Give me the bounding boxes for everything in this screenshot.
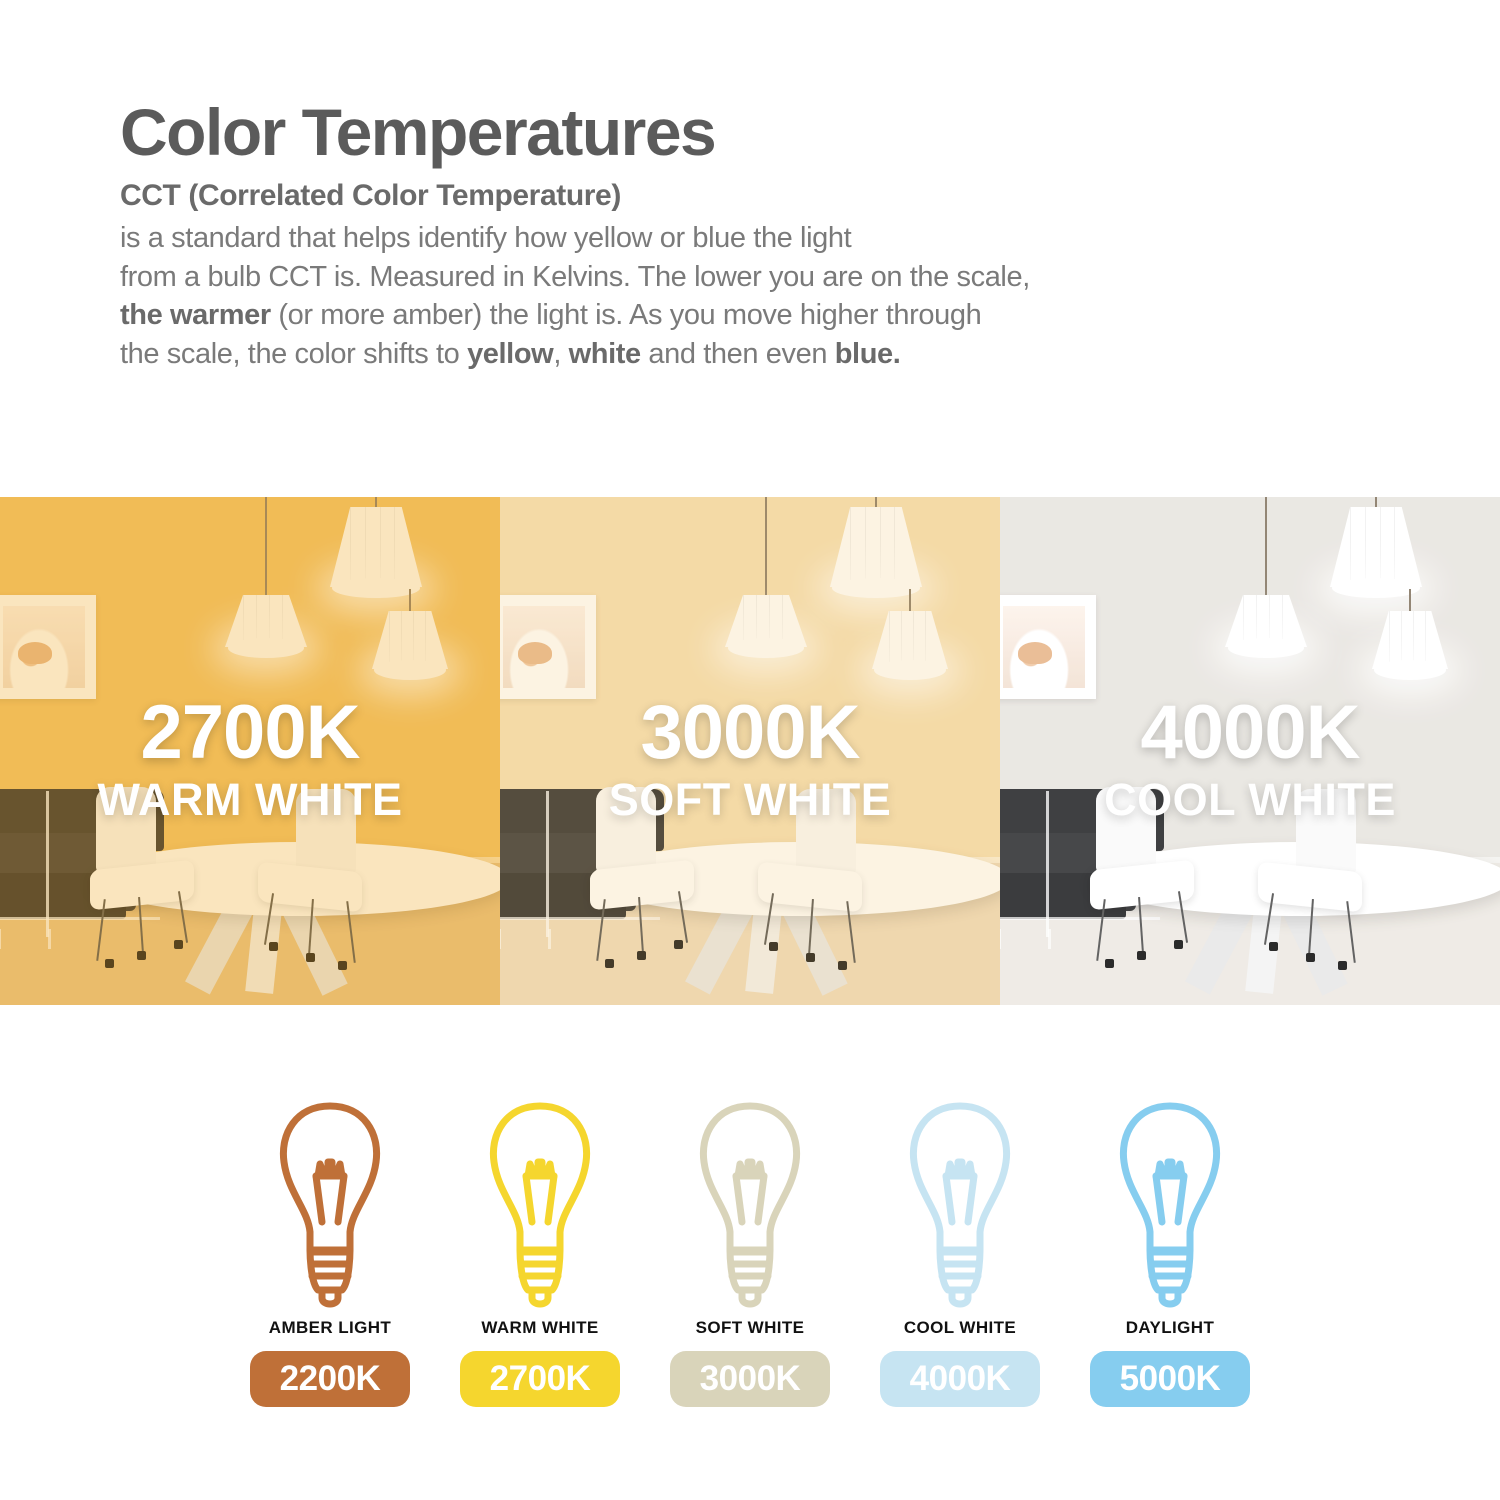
baby-photo: [1003, 606, 1085, 688]
baby-photo: [503, 606, 585, 688]
chair-foot: [1269, 942, 1278, 951]
sofa-leg: [48, 929, 51, 949]
lamp-cord: [875, 497, 877, 507]
scene-kelvin-label: 2700K: [0, 695, 500, 771]
bulb-name-label: DAYLIGHT: [1126, 1318, 1215, 1338]
sofa-frame-rail: [0, 917, 160, 920]
scene-kelvin-label: 4000K: [1000, 695, 1500, 771]
scene-caption: 3000K SOFT WHITE: [500, 695, 1000, 822]
light-bulb-icon: [690, 1100, 810, 1310]
light-bulb-icon: [270, 1100, 390, 1310]
chair-foot: [769, 942, 778, 951]
lamp-glow: [1374, 660, 1446, 680]
kelvin-pill-label: 2700K: [490, 1359, 591, 1399]
paragraph-line-4-tail: and then even: [641, 338, 835, 370]
sofa-frame-rail: [1000, 917, 1160, 920]
sofa-leg: [1048, 929, 1051, 949]
scene-name-label: SOFT WHITE: [500, 777, 1000, 822]
sofa-leg: [548, 929, 551, 949]
lamp-glow: [832, 578, 920, 598]
paragraph-line-2-text: from a bulb CCT is. Measured in Kelvins.…: [120, 261, 1030, 293]
chair-foot: [806, 953, 815, 962]
chair-foot: [338, 961, 347, 970]
lamp-cord: [375, 497, 377, 507]
room-scene-2700k: 2700K WARM WHITE: [0, 497, 500, 1005]
infographic-page: Color Temperatures CCT (Correlated Color…: [0, 0, 1500, 1500]
sofa-leg: [500, 929, 501, 949]
chair-foot: [269, 942, 278, 951]
kelvin-pill-label: 3000K: [700, 1359, 801, 1399]
chair-foot: [674, 940, 683, 949]
light-bulb-icon: [900, 1100, 1020, 1310]
bulb-name-label: SOFT WHITE: [696, 1318, 805, 1338]
lamp-glow: [374, 660, 446, 680]
bulb-legend-item: AMBER LIGHT 2200K: [250, 1100, 410, 1407]
lamp-cord: [1265, 497, 1267, 595]
scene-kelvin-label: 3000K: [500, 695, 1000, 771]
scene-name-label: COOL WHITE: [1000, 777, 1500, 822]
lamp-cord: [265, 497, 267, 595]
chair-foot: [306, 953, 315, 962]
page-title: Color Temperatures: [120, 98, 1380, 167]
lamp-glow: [1228, 638, 1304, 658]
emphasis-blue: blue.: [835, 338, 901, 370]
scene-name-label: WARM WHITE: [0, 777, 500, 822]
lamp-glow: [728, 638, 804, 658]
kelvin-pill: 5000K: [1090, 1351, 1250, 1407]
subtitle: CCT (Correlated Color Temperature): [120, 179, 1380, 213]
chair-foot: [105, 959, 114, 968]
kelvin-pill: 2700K: [460, 1351, 620, 1407]
bulb-name-label: WARM WHITE: [481, 1318, 598, 1338]
emphasis-white: white: [569, 338, 641, 370]
paragraph-line-1-text: is a standard that helps identify how ye…: [120, 222, 851, 254]
room-scene-3000k: 3000K SOFT WHITE: [500, 497, 1000, 1005]
chair-foot: [605, 959, 614, 968]
chair-foot: [174, 940, 183, 949]
bulb-legend-item: DAYLIGHT 5000K: [1090, 1100, 1250, 1407]
chair-foot: [1174, 940, 1183, 949]
scene-caption: 4000K COOL WHITE: [1000, 695, 1500, 822]
paragraph-line-3: the warmer (or more amber) the light is.…: [120, 296, 1380, 335]
wall-picture-frame: [0, 595, 96, 699]
paragraph-line-2: from a bulb CCT is. Measured in Kelvins.…: [120, 258, 1380, 297]
wall-picture-frame: [1000, 595, 1096, 699]
description-paragraph: is a standard that helps identify how ye…: [120, 219, 1380, 373]
chair-foot: [838, 961, 847, 970]
lamp-glow: [1332, 578, 1420, 598]
baby-photo: [3, 606, 85, 688]
paragraph-line-4: the scale, the color shifts to yellow, w…: [120, 335, 1380, 374]
scene-caption: 2700K WARM WHITE: [0, 695, 500, 822]
kelvin-pill-label: 4000K: [910, 1359, 1011, 1399]
lamp-cord: [1409, 589, 1411, 611]
chair-foot: [1105, 959, 1114, 968]
sofa-leg: [1000, 929, 1001, 949]
bulb-legend-row: AMBER LIGHT 2200K WARM WHITE 2700K: [0, 1100, 1500, 1407]
chair-foot: [1306, 953, 1315, 962]
paragraph-line-3-text: (or more amber) the light is. As you mov…: [271, 299, 982, 331]
bulb-name-label: COOL WHITE: [904, 1318, 1016, 1338]
chair-foot: [1338, 961, 1347, 970]
lamp-cord: [409, 589, 411, 611]
kelvin-pill: 3000K: [670, 1351, 830, 1407]
bulb-legend-item: SOFT WHITE 3000K: [670, 1100, 830, 1407]
room-scene-4000k: 4000K COOL WHITE: [1000, 497, 1500, 1005]
paragraph-line-4-text: the scale, the color shifts to: [120, 338, 467, 370]
bulb-name-label: AMBER LIGHT: [269, 1318, 391, 1338]
kelvin-pill: 4000K: [880, 1351, 1040, 1407]
emphasis-yellow: yellow: [467, 338, 553, 370]
bulb-legend-item: WARM WHITE 2700K: [460, 1100, 620, 1407]
light-bulb-icon: [480, 1100, 600, 1310]
sofa-leg: [0, 929, 1, 949]
wall-picture-frame: [500, 595, 596, 699]
kelvin-pill-label: 2200K: [280, 1359, 381, 1399]
light-bulb-icon: [1110, 1100, 1230, 1310]
lamp-glow: [874, 660, 946, 680]
lamp-cord: [909, 589, 911, 611]
chair-foot: [637, 951, 646, 960]
room-photo-strip: 2700K WARM WHITE: [0, 497, 1500, 1005]
kelvin-pill-label: 5000K: [1120, 1359, 1221, 1399]
paragraph-comma: ,: [553, 338, 568, 370]
lamp-glow: [228, 638, 304, 658]
sofa-frame-rail: [500, 917, 660, 920]
header-block: Color Temperatures CCT (Correlated Color…: [120, 98, 1380, 374]
chair-foot: [137, 951, 146, 960]
paragraph-line-1: is a standard that helps identify how ye…: [120, 219, 1380, 258]
lamp-cord: [765, 497, 767, 595]
emphasis-the-warmer: the warmer: [120, 299, 271, 331]
chair-foot: [1137, 951, 1146, 960]
kelvin-pill: 2200K: [250, 1351, 410, 1407]
bulb-legend-item: COOL WHITE 4000K: [880, 1100, 1040, 1407]
lamp-cord: [1375, 497, 1377, 507]
lamp-glow: [332, 578, 420, 598]
